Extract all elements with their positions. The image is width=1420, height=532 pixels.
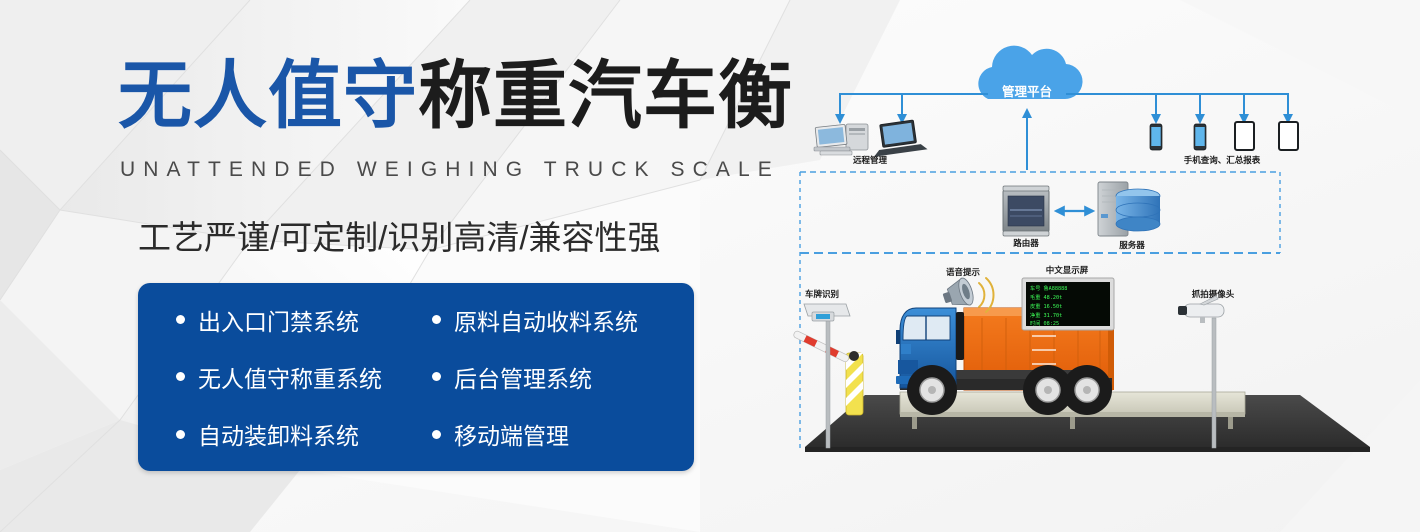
voice-prompt-speaker	[940, 276, 994, 312]
bullet-icon	[176, 315, 185, 324]
feature-item-1[interactable]: 原料自动收料系统	[432, 303, 732, 337]
banner-root: 无人值守称重汽车衡 UNATTENDED WEIGHING TRUCK SCAL…	[0, 0, 1420, 532]
tablet-icon-1	[1235, 122, 1254, 150]
feature-label: 移动端管理	[454, 417, 569, 451]
smartphone-icon-2	[1194, 124, 1206, 150]
feature-grid: 出入口门禁系统 原料自动收料系统 无人值守称重系统 后台管理系统 自动装卸料系统	[138, 283, 694, 471]
label-mobile-query: 手机查询、汇总报表	[1184, 155, 1261, 165]
bullet-icon	[176, 372, 185, 381]
chinese-led-display: 车号 鲁A88888 毛重 48.20t 皮重 16.50t 净重 31.70t…	[1022, 278, 1114, 330]
feature-item-5[interactable]: 移动端管理	[432, 417, 732, 451]
feature-item-0[interactable]: 出入口门禁系统	[176, 303, 432, 337]
label-remote-management: 远程管理	[853, 155, 888, 165]
led-line-4: 时间 08:25	[1030, 319, 1059, 327]
headline-blue-text: 无人值守	[118, 54, 418, 137]
cloud-platform-node[interactable]: 管理平台	[978, 46, 1082, 99]
server-icon	[1098, 182, 1160, 236]
led-line-2: 皮重 16.50t	[1030, 302, 1062, 310]
tagline: 工艺严谨/可定制/识别高清/兼容性强	[138, 211, 661, 259]
left-text-panel: 无人值守称重汽车衡 UNATTENDED WEIGHING TRUCK SCAL…	[0, 0, 760, 532]
label-router: 路由器	[1013, 238, 1039, 248]
bullet-icon	[432, 372, 441, 381]
bullet-icon	[176, 430, 185, 439]
label-server: 服务器	[1119, 240, 1145, 250]
tablet-icon-2	[1279, 122, 1298, 150]
feature-label: 出入口门禁系统	[198, 303, 359, 337]
feature-label: 后台管理系统	[454, 360, 592, 394]
cloud-label: 管理平台	[1002, 84, 1052, 99]
feature-list-box: 出入口门禁系统 原料自动收料系统 无人值守称重系统 后台管理系统 自动装卸料系统	[138, 283, 694, 471]
bullet-icon	[432, 315, 441, 324]
label-chinese-display: 中文显示屏	[1046, 265, 1089, 275]
subtitle-english: UNATTENDED WEIGHING TRUCK SCALE	[120, 158, 780, 182]
feature-label: 原料自动收料系统	[454, 303, 638, 337]
feature-item-3[interactable]: 后台管理系统	[432, 360, 732, 394]
laptop-icon	[870, 119, 928, 157]
led-line-3: 净重 31.70t	[1030, 311, 1062, 319]
led-line-0: 车号 鲁A88888	[1030, 284, 1067, 292]
label-plate-recognition: 车牌识别	[805, 289, 839, 299]
database-cylinder-icon	[1116, 189, 1160, 231]
page-title: 无人值守称重汽车衡	[118, 57, 793, 135]
feature-item-2[interactable]: 无人值守称重系统	[176, 360, 432, 394]
bullet-icon	[432, 430, 441, 439]
desktop-computer-icon	[814, 124, 868, 155]
system-architecture-diagram: 管理平台	[760, 0, 1420, 532]
smartphone-icon-1	[1150, 124, 1162, 150]
label-voice-prompt: 语音提示	[946, 267, 981, 277]
led-line-1: 毛重 48.20t	[1030, 293, 1062, 301]
feature-item-4[interactable]: 自动装卸料系统	[176, 417, 432, 451]
headline-dark-text: 称重汽车衡	[418, 54, 793, 137]
feature-label: 无人值守称重系统	[198, 360, 382, 394]
router-icon	[1003, 186, 1049, 236]
feature-label: 自动装卸料系统	[198, 417, 359, 451]
